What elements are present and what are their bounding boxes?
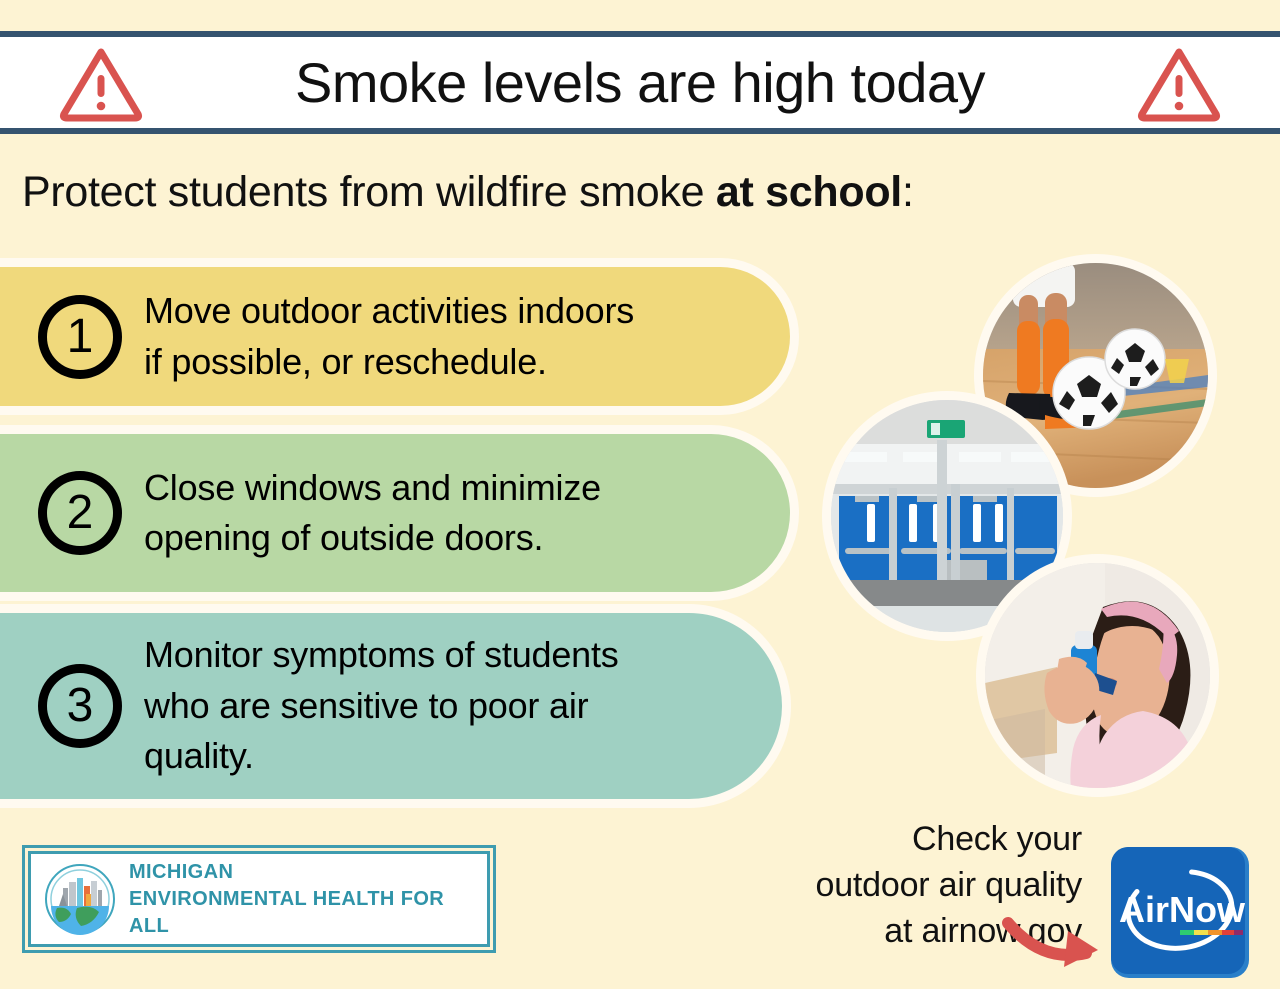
subtitle-emphasis: at school xyxy=(716,168,902,216)
tip-text-line: who are sensitive to poor air xyxy=(144,681,619,731)
airnow-call-to-action: Check your outdoor air quality at airnow… xyxy=(790,816,1252,981)
tip-item: 1 Move outdoor activities indoors if pos… xyxy=(0,267,790,406)
photo-girl-using-asthma-inhaler xyxy=(985,563,1210,788)
globe-city-skyline-icon xyxy=(43,862,117,936)
tip-number-badge: 3 xyxy=(38,664,122,748)
tip-text: Move outdoor activities indoors if possi… xyxy=(144,286,634,387)
tip-text-line: Move outdoor activities indoors xyxy=(144,286,634,336)
tip-text-line: Monitor symptoms of students xyxy=(144,630,619,680)
curved-arrow-icon xyxy=(1002,915,1106,977)
tip-number-badge: 2 xyxy=(38,471,122,555)
tip-number-badge: 1 xyxy=(38,295,122,379)
tip-text-line: quality. xyxy=(144,731,619,781)
page-title: Smoke levels are high today xyxy=(295,55,985,111)
tip-item: 2 Close windows and minimize opening of … xyxy=(0,434,790,592)
tip-text: Monitor symptoms of students who are sen… xyxy=(144,630,619,781)
michigan-logo-text: MICHIGAN ENVIRONMENTAL HEALTH FOR ALL xyxy=(129,859,487,940)
warning-triangle-icon xyxy=(1136,44,1222,122)
airnow-cta-line-1: Check your xyxy=(816,816,1082,862)
tip-text-line: if possible, or reschedule. xyxy=(144,337,634,387)
airnow-cta-line-2: outdoor air quality xyxy=(816,862,1082,908)
warning-triangle-icon xyxy=(58,44,144,122)
michigan-logo-line-1: MICHIGAN xyxy=(129,859,487,886)
header-banner: Smoke levels are high today xyxy=(0,31,1280,134)
tip-item: 3 Monitor symptoms of students who are s… xyxy=(0,613,782,799)
tip-text-line: opening of outside doors. xyxy=(144,513,601,563)
subtitle-trail: : xyxy=(902,168,914,216)
tip-text-line: Close windows and minimize xyxy=(144,463,601,513)
airnow-logo[interactable]: AirNow xyxy=(1108,844,1252,981)
airnow-logo-text-glyph: AirNow xyxy=(1119,889,1246,930)
subtitle-lead: Protect students from wildfire smoke xyxy=(22,168,716,216)
tip-text: Close windows and minimize opening of ou… xyxy=(144,463,601,564)
subtitle: Protect students from wildfire smoke at … xyxy=(22,168,914,217)
michigan-environmental-health-logo: MICHIGAN ENVIRONMENTAL HEALTH FOR ALL xyxy=(28,851,490,947)
michigan-logo-line-2: ENVIRONMENTAL HEALTH FOR ALL xyxy=(129,886,487,940)
